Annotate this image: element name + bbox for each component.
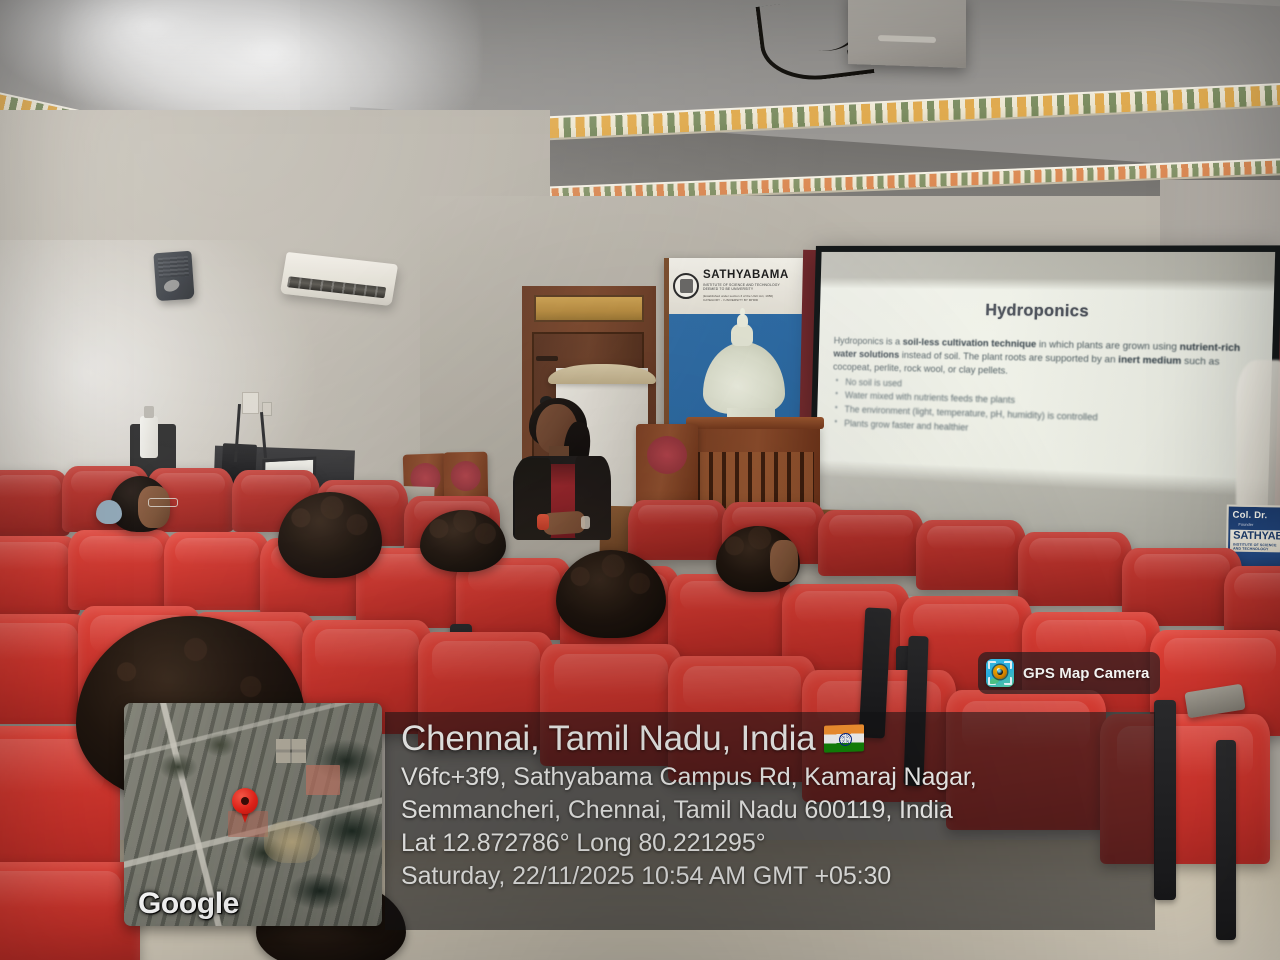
map-pin-icon bbox=[232, 788, 258, 822]
seat bbox=[916, 520, 1026, 590]
banner-subtitle-1: INSTITUTE OF SCIENCE AND TECHNOLOGYDEEME… bbox=[703, 283, 813, 292]
slide-content: Hydroponics Hydroponics is a soil-less c… bbox=[830, 290, 1257, 495]
dome-neck bbox=[731, 324, 753, 346]
poster-brand-band: SATHYABAMA INSTITUTE OF SCIENCE AND TECH… bbox=[1230, 530, 1280, 552]
hair-clip bbox=[96, 500, 122, 524]
focus-corner-icon bbox=[1004, 677, 1012, 685]
gps-map-camera-badge[interactable]: GPS Map Camera bbox=[978, 652, 1160, 694]
seat bbox=[628, 500, 728, 560]
audience-face bbox=[138, 486, 170, 528]
seat bbox=[68, 530, 174, 610]
photo-canvas: SATHYABAMA INSTITUTE OF SCIENCE AND TECH… bbox=[0, 0, 1280, 960]
location-title: Chennai, Tamil Nadu, India bbox=[401, 720, 815, 758]
map-courtyard-grid bbox=[276, 739, 306, 763]
audience-head bbox=[420, 510, 506, 572]
poster-founder-name: Col. Dr. bbox=[1228, 507, 1280, 522]
location-title-row: Chennai, Tamil Nadu, India bbox=[401, 720, 1139, 758]
banner-subtitle-2: (Established under section 3 of the UGC … bbox=[703, 294, 813, 302]
location-info-overlay: Chennai, Tamil Nadu, India V6fc+3f9, Sat… bbox=[385, 712, 1155, 930]
banner-dome-illustration bbox=[703, 342, 785, 414]
seat bbox=[0, 470, 70, 536]
wall-socket-plate bbox=[262, 402, 272, 416]
poster-founder-role: Founder bbox=[1228, 522, 1280, 528]
wall-speaker bbox=[153, 251, 194, 302]
ac-vent bbox=[287, 276, 386, 298]
seat bbox=[818, 510, 924, 576]
slide-bullet-list: No soil is usedWater mixed with nutrient… bbox=[831, 375, 1254, 446]
door-handle bbox=[536, 356, 558, 361]
seat-frame bbox=[1154, 700, 1176, 900]
presenter bbox=[505, 404, 615, 540]
leaf-icon bbox=[990, 678, 999, 684]
gps-camera-icon bbox=[986, 659, 1014, 687]
wall-switch-plate bbox=[242, 392, 259, 414]
seat bbox=[164, 532, 270, 610]
sathyabama-logo-icon bbox=[673, 273, 699, 299]
poster-brand: SATHYABAMA bbox=[1233, 531, 1277, 543]
presenter-bangle-right bbox=[581, 516, 590, 529]
bench-top-rail bbox=[686, 417, 824, 429]
map-thumbnail[interactable]: Google bbox=[124, 703, 382, 926]
speaker-grill bbox=[158, 256, 189, 278]
slide-title: Hydroponics bbox=[834, 300, 1256, 324]
presenter-bangle-left bbox=[537, 514, 549, 530]
poster-brand-sub: INSTITUTE OF SCIENCE AND TECHNOLOGY bbox=[1233, 542, 1277, 551]
seat bbox=[0, 862, 140, 960]
banner-title: SATHYABAMA bbox=[703, 270, 813, 282]
banner-text-block: SATHYABAMA INSTITUTE OF SCIENCE AND TECH… bbox=[703, 270, 813, 303]
banner-header: SATHYABAMA INSTITUTE OF SCIENCE AND TECH… bbox=[669, 258, 817, 314]
door-transom-panel bbox=[534, 295, 644, 322]
pin-hole bbox=[241, 797, 249, 805]
ceiling-projector bbox=[848, 0, 966, 68]
camera-lens-icon bbox=[993, 665, 1007, 679]
address-line-1: V6fc+3f9, Sathyabama Campus Rd, Kamaraj … bbox=[401, 761, 1139, 794]
address-line-2: Semmancheri, Chennai, Tamil Nadu 600119,… bbox=[401, 794, 1139, 827]
logo-inner-mark bbox=[680, 279, 693, 293]
india-flag-icon bbox=[824, 725, 864, 753]
person-in-white-background bbox=[1236, 360, 1280, 510]
projector-lens-icon bbox=[878, 35, 936, 43]
map-open-ground bbox=[264, 821, 320, 863]
sanitizer-bottle bbox=[140, 416, 158, 458]
sanitizer-pump-icon bbox=[144, 406, 154, 418]
datetime-line: Saturday, 22/11/2025 10:54 AM GMT +05:30 bbox=[401, 860, 1139, 893]
speaker-cone-icon bbox=[162, 278, 181, 294]
location-detail-lines: V6fc+3f9, Sathyabama Campus Rd, Kamaraj … bbox=[401, 761, 1139, 893]
gps-badge-label: GPS Map Camera bbox=[1023, 665, 1149, 682]
seat-frame bbox=[1216, 740, 1236, 940]
google-attribution: Google bbox=[138, 887, 239, 921]
dome-tip bbox=[740, 308, 745, 316]
map-building bbox=[306, 765, 340, 795]
ac-vent-louvers bbox=[287, 276, 386, 298]
audience-face bbox=[770, 540, 798, 582]
eyeglasses-icon bbox=[148, 498, 178, 507]
coordinates-line: Lat 12.872786° Long 80.221295° bbox=[401, 827, 1139, 860]
seat bbox=[1018, 532, 1132, 606]
